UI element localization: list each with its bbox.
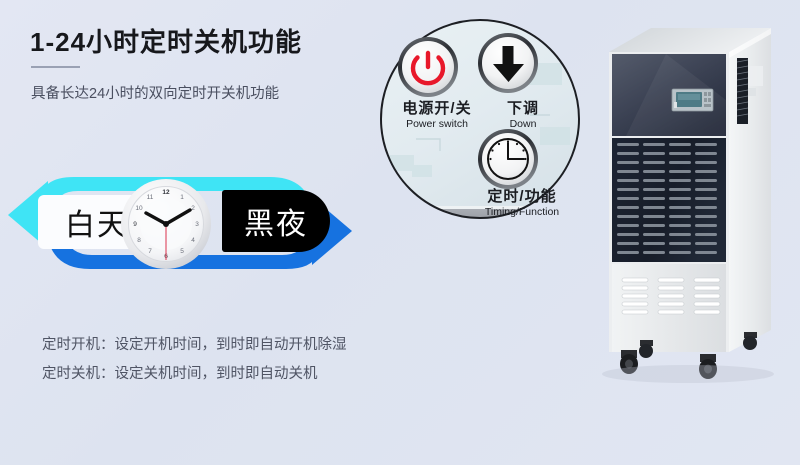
product-feature-banner: 1-24小时定时关机功能 具备长达24小时的双向定时开关机功能 白天 黑夜: [0, 0, 800, 465]
power-switch-label-cn: 电源开/关: [394, 100, 480, 117]
svg-text:2: 2: [191, 205, 195, 212]
svg-text:10: 10: [135, 205, 143, 212]
page-title: 1-24小时定时关机功能: [30, 22, 302, 59]
page-subtitle: 具备长达24小时的双向定时开关机功能: [31, 82, 279, 103]
timing-label-en: Timing/Function: [466, 206, 578, 218]
down-button: [478, 33, 538, 93]
svg-text:4: 4: [191, 237, 195, 244]
unit-side-panel: [729, 28, 771, 352]
power-switch-button: [398, 37, 458, 97]
description-line-2: 定时关机：设定关机时间，到时即自动关机: [42, 362, 318, 383]
svg-text:5: 5: [180, 248, 184, 255]
svg-text:3: 3: [195, 221, 199, 228]
power-switch-caption: 电源开/关 Power switch: [394, 100, 480, 130]
timing-label-cn: 定时/功能: [466, 188, 578, 205]
svg-text:12: 12: [162, 189, 170, 196]
timing-function-caption: 定时/功能 Timing/Function: [466, 188, 578, 218]
svg-text:8: 8: [137, 237, 141, 244]
analog-clock-icon: 12 12 34 56 78 9 1011: [120, 168, 212, 280]
down-button-caption: 下调 Down: [482, 100, 564, 130]
svg-text:9: 9: [133, 221, 137, 228]
unit-base-panel: [612, 264, 726, 352]
dehumidifier-product-image: [596, 22, 800, 442]
title-divider: [31, 66, 80, 68]
lcd-display-icon: [672, 89, 713, 111]
down-label-cn: 下调: [482, 100, 564, 117]
svg-text:11: 11: [147, 194, 154, 201]
timing-function-button: [478, 129, 538, 189]
description-line-1: 定时开机：设定开机时间，到时即自动开机除湿: [42, 333, 347, 354]
svg-text:7: 7: [148, 248, 152, 255]
svg-text:1: 1: [180, 194, 184, 201]
down-label-en: Down: [482, 118, 564, 130]
unit-grille: [612, 138, 726, 262]
power-switch-label-en: Power switch: [394, 118, 480, 130]
control-panel-magnifier: [380, 19, 580, 261]
night-label: 黑夜: [222, 190, 330, 252]
